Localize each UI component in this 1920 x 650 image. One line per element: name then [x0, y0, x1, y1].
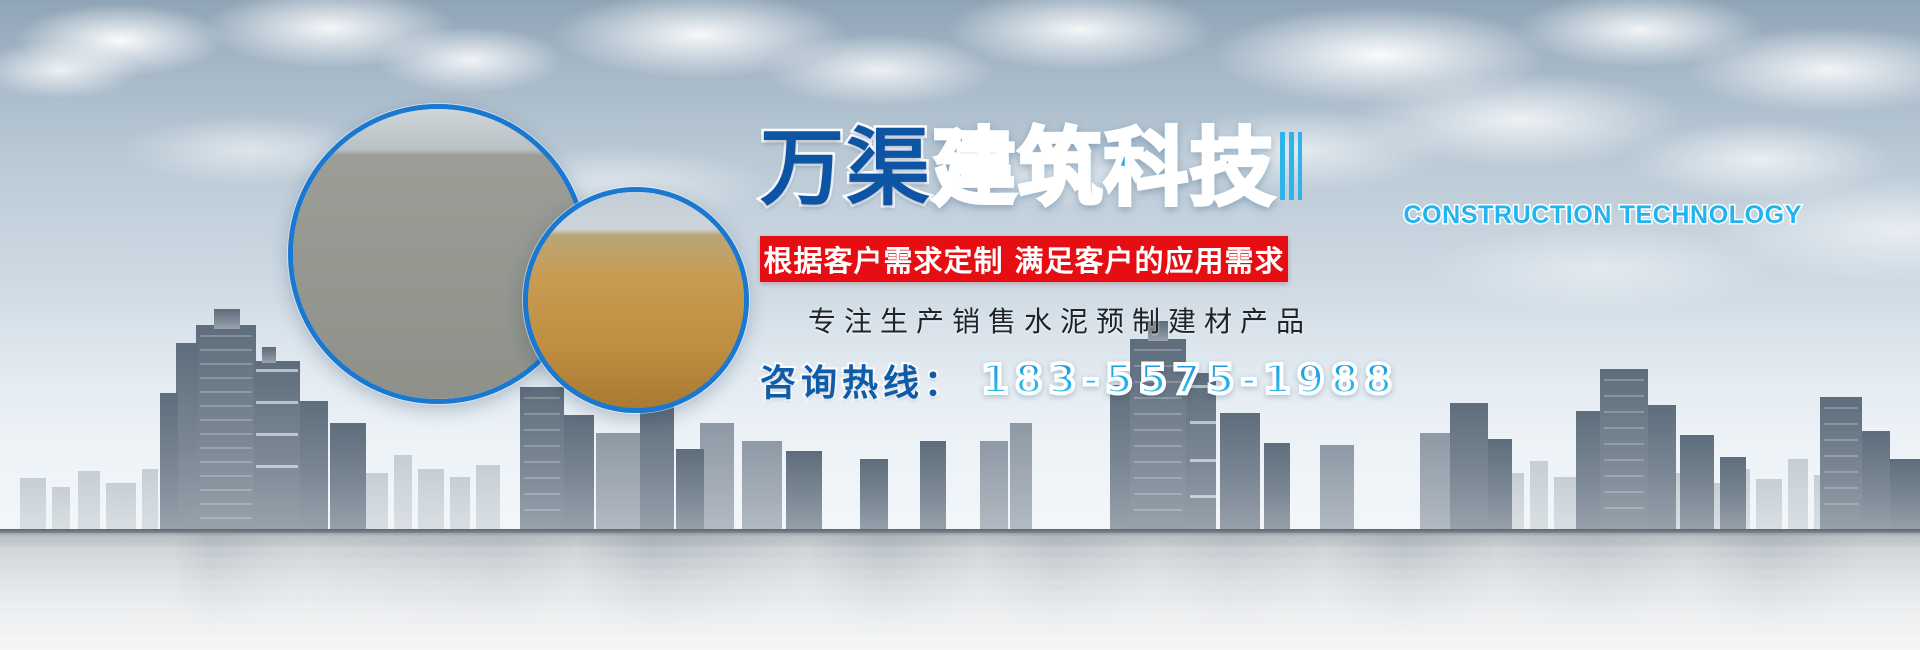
banner-content: 万渠建筑科技 CONSTRUCTION TECHNOLOGY 根据客户需求定制 … [760, 118, 1820, 406]
hotline-label: 咨询热线： [760, 354, 965, 406]
brand-title-row: 万渠建筑科技 CONSTRUCTION TECHNOLOGY [760, 118, 1820, 222]
tagline-text: 专注生产销售水泥预制建材产品 [808, 300, 1820, 340]
ground-sheen [0, 533, 1920, 650]
hotline-row: 咨询热线： 183-5575-1988 [760, 354, 1820, 406]
title-bars-icon [1280, 132, 1302, 200]
slogan-bar: 根据客户需求定制 满足客户的应用需求 [760, 236, 1288, 282]
hotline-number[interactable]: 183-5575-1988 [981, 357, 1398, 403]
brand-name-light: 建筑科技 [932, 119, 1276, 217]
photo-excavation-septic-tank: 5t [523, 187, 749, 413]
brand-name-dark: 万渠 [760, 119, 932, 217]
brand-english-subtitle: CONSTRUCTION TECHNOLOGY [1403, 201, 1802, 230]
hero-banner: 5t [0, 0, 1920, 650]
slogan-text: 根据客户需求定制 满足客户的应用需求 [763, 238, 1284, 280]
